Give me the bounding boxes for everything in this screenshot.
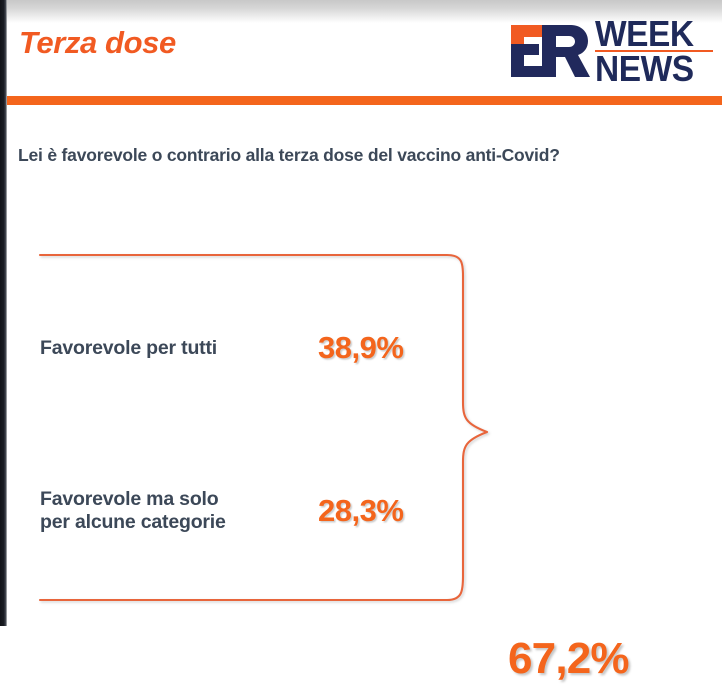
row-1-label: Favorevole per tutti <box>40 337 318 360</box>
row-2-label-line-2: per alcune categorie <box>40 511 318 534</box>
row-2-label-line-1: Favorevole ma solo <box>40 488 318 511</box>
logo-word-bottom: NEWS <box>595 53 705 84</box>
chart-area: Favorevole per tutti 38,9% Favorevole ma… <box>0 230 722 626</box>
header: Terza dose WEEK NEWS <box>7 23 722 96</box>
row-2-value: 28,3% <box>318 493 403 529</box>
page-title: Terza dose <box>19 25 176 61</box>
data-row-1: Favorevole per tutti 38,9% <box>40 330 460 366</box>
survey-question: Lei è favorevole o contrario alla terza … <box>18 145 718 166</box>
er-monogram-icon <box>509 23 591 79</box>
row-2-label: Favorevole ma solo per alcune categorie <box>40 488 318 533</box>
left-edge-strip <box>0 0 7 626</box>
logo-word-top: WEEK <box>595 18 705 49</box>
grouping-brace-icon <box>0 230 722 626</box>
row-1-label-line-1: Favorevole per tutti <box>40 337 217 359</box>
row-1-value: 38,9% <box>318 330 403 366</box>
data-row-2: Favorevole ma solo per alcune categorie … <box>40 488 460 533</box>
logo-wordmark: WEEK NEWS <box>595 18 713 85</box>
total-value: 67,2% <box>508 634 629 684</box>
orange-divider-bar <box>7 96 722 105</box>
logo: WEEK NEWS <box>509 16 713 86</box>
